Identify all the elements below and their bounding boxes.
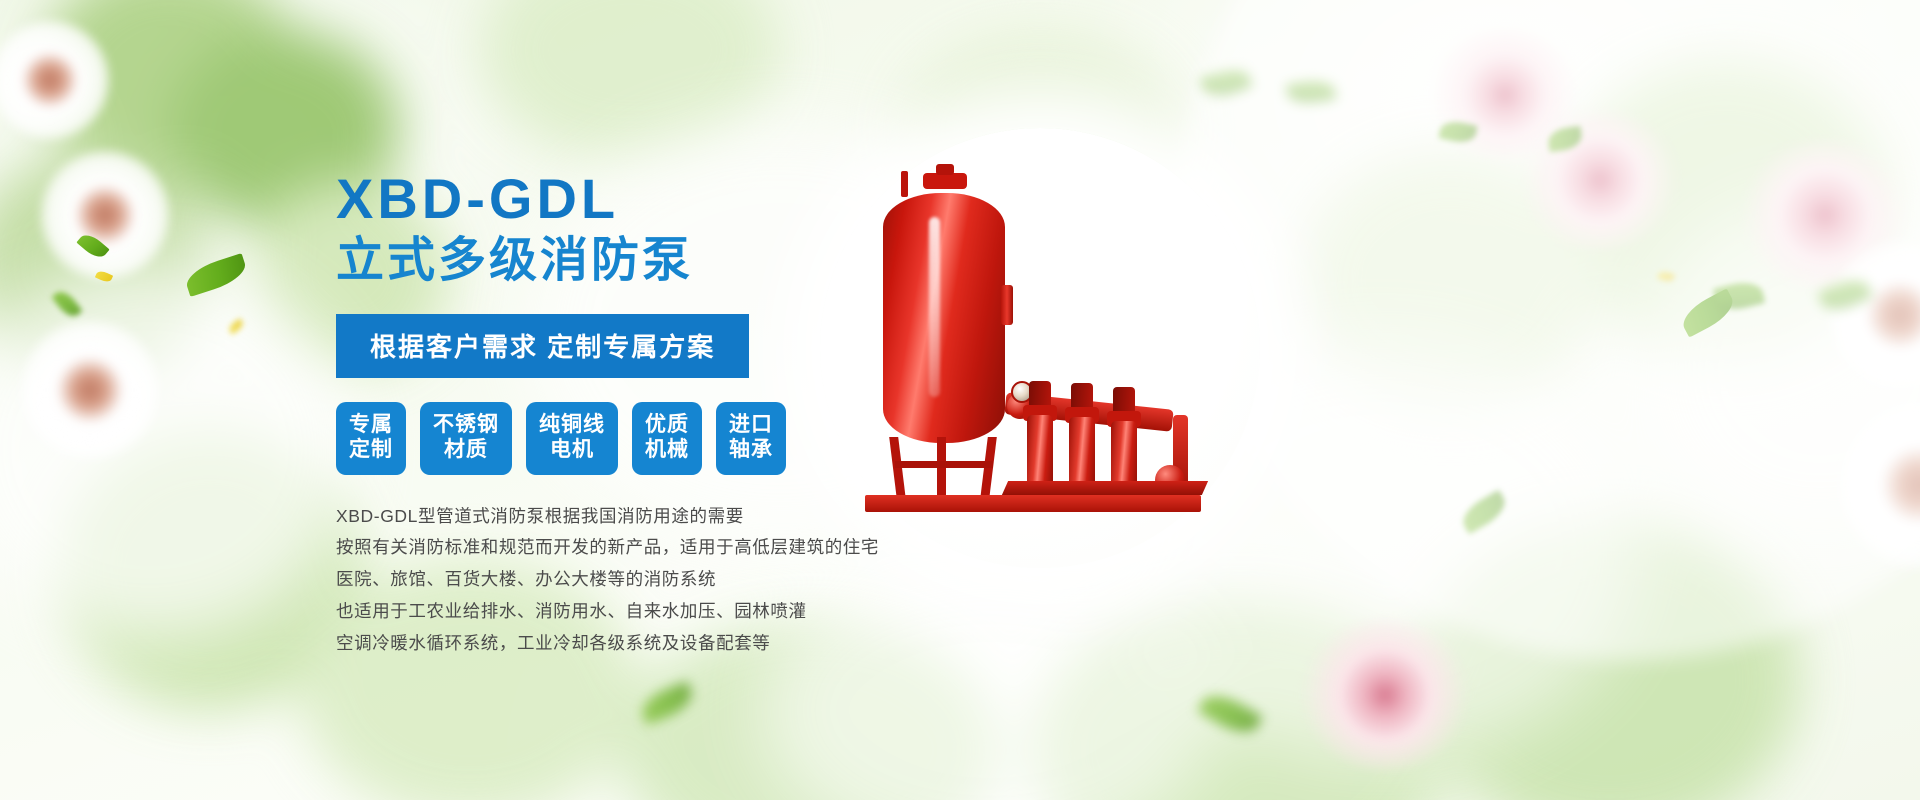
- cta-ribbon[interactable]: 根据客户需求 定制专属方案: [336, 314, 749, 378]
- pressure-tank: [883, 193, 1005, 443]
- badge-line-2: 电机: [539, 438, 605, 463]
- badge-line-1: 专属: [349, 413, 393, 436]
- base-frame-rail: [865, 495, 1201, 512]
- feature-badge-imported-bearing[interactable]: 进口 轴承: [716, 402, 786, 475]
- badge-line-2: 材质: [433, 438, 499, 463]
- badge-line-1: 纯铜线: [539, 413, 605, 436]
- tank-vent-pipe: [901, 171, 908, 197]
- feature-badge-stainless[interactable]: 不锈钢 材质: [420, 402, 512, 475]
- product-hero-banner: XBD-GDL 立式多级消防泵 根据客户需求 定制专属方案 专属 定制 不锈钢 …: [0, 0, 1920, 800]
- page-title: XBD-GDL: [336, 170, 896, 229]
- badge-line-2: 轴承: [729, 438, 773, 463]
- product-image: [855, 165, 1235, 550]
- tank-legs: [889, 437, 999, 499]
- hero-text-column: XBD-GDL 立式多级消防泵 根据客户需求 定制专属方案 专属 定制 不锈钢 …: [336, 170, 896, 660]
- page-subtitle: 立式多级消防泵: [336, 233, 896, 288]
- tank-side-flange: [1001, 285, 1013, 325]
- description-line: 医院、旅馆、百货大楼、办公大楼等的消防系统: [336, 564, 896, 596]
- badge-line-1: 优质: [645, 413, 689, 436]
- feature-badge-quality-machinery[interactable]: 优质 机械: [632, 402, 702, 475]
- feature-badge-custom[interactable]: 专属 定制: [336, 402, 406, 475]
- description-line: 也适用于工农业给排水、消防用水、自来水加压、园林喷灌: [336, 596, 896, 628]
- description-line: 空调冷暖水循环系统，工业冷却各级系统及设备配套等: [336, 628, 896, 660]
- background-white-arc: [1180, 0, 1920, 660]
- base-frame-diagonal: [1002, 481, 1208, 495]
- description-line: XBD-GDL型管道式消防泵根据我国消防用途的需要: [336, 501, 896, 533]
- tank-highlight: [929, 217, 940, 397]
- description-line: 按照有关消防标准和规范而开发的新产品，适用于高低层建筑的住宅: [336, 532, 896, 564]
- product-description: XBD-GDL型管道式消防泵根据我国消防用途的需要 按照有关消防标准和规范而开发…: [336, 501, 896, 660]
- badge-line-1: 进口: [729, 413, 773, 436]
- badge-line-2: 定制: [349, 438, 393, 463]
- feature-badge-copper-motor[interactable]: 纯铜线 电机: [526, 402, 618, 475]
- tank-cap: [923, 173, 967, 189]
- feature-badge-list: 专属 定制 不锈钢 材质 纯铜线 电机 优质 机械 进口 轴承: [336, 402, 896, 475]
- badge-line-2: 机械: [645, 438, 689, 463]
- badge-line-1: 不锈钢: [433, 413, 499, 436]
